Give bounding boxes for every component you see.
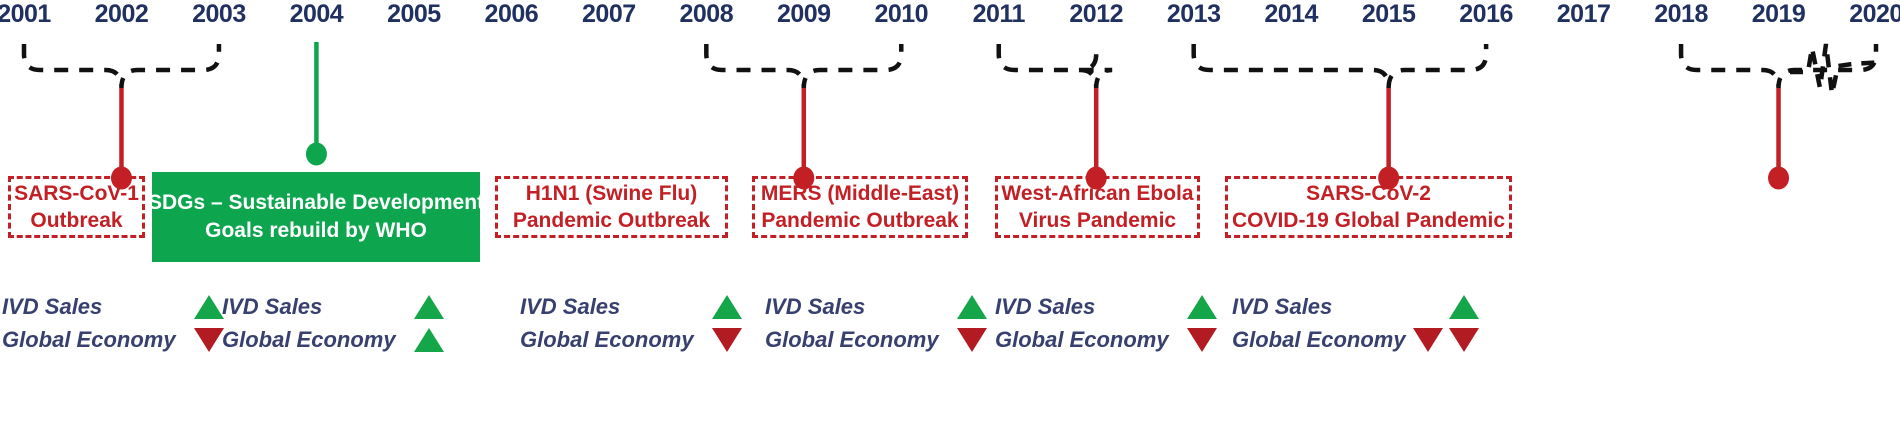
year-label-2011: 2011 (954, 0, 1044, 28)
indicator-group-ebola: IVD SalesGlobal Economy (995, 290, 1220, 356)
brace-ebola (1194, 44, 1486, 88)
event-text-line: Virus Pandemic (1019, 207, 1176, 234)
year-label-2013: 2013 (1149, 0, 1239, 28)
year-label-2014: 2014 (1246, 0, 1336, 28)
indicator-arrows-ivd-sales (1184, 290, 1220, 323)
triangle-up-icon (712, 295, 742, 319)
indicator-label-ivd-sales: IVD Sales (1232, 292, 1332, 322)
year-label-2007: 2007 (564, 0, 654, 28)
event-text-line: COVID-19 Global Pandemic (1232, 207, 1505, 234)
year-label-2012: 2012 (1051, 0, 1141, 28)
event-text-line: Goals rebuild by WHO (205, 217, 427, 245)
event-text-line: Pandemic Outbreak (513, 207, 710, 234)
event-box-sars-cov-1[interactable]: SARS-CoV-1Outbreak (8, 176, 145, 238)
triangle-up-icon (1449, 295, 1479, 319)
indicator-arrows-ivd-sales (411, 290, 447, 323)
indicator-label-global-economy: Global Economy (995, 325, 1169, 355)
year-label-2015: 2015 (1344, 0, 1434, 28)
triangle-down-icon (712, 328, 742, 352)
indicator-row-ivd-sales: IVD Sales (765, 290, 990, 323)
indicator-row-global-economy: Global Economy (765, 323, 990, 356)
event-text-line: West-African Ebola (1001, 180, 1193, 207)
event-box-mers[interactable]: MERS (Middle-East)Pandemic Outbreak (752, 176, 968, 238)
triangle-down-icon (1413, 328, 1443, 352)
indicator-arrows-ivd-sales (954, 290, 990, 323)
indicator-label-global-economy: Global Economy (765, 325, 939, 355)
indicator-row-ivd-sales: IVD Sales (995, 290, 1220, 323)
event-text-line: Outbreak (30, 207, 122, 234)
event-text-line: SARS-CoV-1 (14, 180, 139, 207)
indicator-label-ivd-sales: IVD Sales (2, 292, 102, 322)
indicator-row-global-economy: Global Economy (995, 323, 1220, 356)
triangle-down-icon (1187, 328, 1217, 352)
marker-dot-sdgs (306, 143, 327, 166)
year-label-2019: 2019 (1734, 0, 1824, 28)
marker-dot-sars-cov-2 (1768, 167, 1789, 190)
year-label-2006: 2006 (466, 0, 556, 28)
indicator-group-sars-cov-2: IVD SalesGlobal Economy (1232, 290, 1482, 356)
event-box-h1n1[interactable]: H1N1 (Swine Flu)Pandemic Outbreak (495, 176, 728, 238)
triangle-up-icon (194, 295, 224, 319)
indicator-label-global-economy: Global Economy (520, 325, 694, 355)
triangle-up-icon (414, 328, 444, 352)
indicator-label-ivd-sales: IVD Sales (222, 292, 322, 322)
year-label-2005: 2005 (369, 0, 459, 28)
triangle-up-icon (957, 295, 987, 319)
indicator-row-global-economy: Global Economy (2, 323, 227, 356)
indicator-label-global-economy: Global Economy (222, 325, 396, 355)
year-label-2016: 2016 (1441, 0, 1531, 28)
indicator-arrows-global-economy (954, 323, 990, 356)
year-label-2004: 2004 (271, 0, 361, 28)
event-text-line: Pandemic Outbreak (761, 207, 958, 234)
indicator-group-sars-cov-1: IVD SalesGlobal Economy (2, 290, 227, 356)
indicator-label-ivd-sales: IVD Sales (995, 292, 1095, 322)
event-text-line: H1N1 (Swine Flu) (526, 180, 698, 207)
event-text-line: SDGs – Sustainable Development (148, 189, 484, 217)
indicator-row-ivd-sales: IVD Sales (222, 290, 447, 323)
indicator-group-mers: IVD SalesGlobal Economy (765, 290, 990, 356)
event-text-line: SARS-CoV-2 (1306, 180, 1431, 207)
year-label-2001: 2001 (0, 0, 69, 28)
event-box-ebola[interactable]: West-African EbolaVirus Pandemic (995, 176, 1200, 238)
timeline-infographic: 2001200220032004200520062007200820092010… (0, 0, 1900, 428)
brace-h1n1 (706, 44, 901, 88)
triangle-down-icon (957, 328, 987, 352)
indicator-group-sdgs: IVD SalesGlobal Economy (222, 290, 447, 356)
year-label-2003: 2003 (174, 0, 264, 28)
year-label-2017: 2017 (1539, 0, 1629, 28)
indicator-row-global-economy: Global Economy (1232, 323, 1482, 356)
event-box-sdgs[interactable]: SDGs – Sustainable DevelopmentGoals rebu… (152, 172, 480, 262)
indicator-row-global-economy: Global Economy (520, 323, 745, 356)
timeline-continues-icon (1790, 44, 1884, 94)
indicator-arrows-global-economy (1184, 323, 1220, 356)
indicator-label-ivd-sales: IVD Sales (520, 292, 620, 322)
brace-sars-cov-2 (1681, 44, 1876, 88)
year-label-2009: 2009 (759, 0, 849, 28)
event-box-sars-cov-2[interactable]: SARS-CoV-2COVID-19 Global Pandemic (1225, 176, 1512, 238)
year-label-2002: 2002 (76, 0, 166, 28)
indicator-group-h1n1: IVD SalesGlobal Economy (520, 290, 745, 356)
triangle-up-icon (414, 295, 444, 319)
indicator-row-ivd-sales: IVD Sales (2, 290, 227, 323)
indicator-label-ivd-sales: IVD Sales (765, 292, 865, 322)
indicator-arrows-ivd-sales (709, 290, 745, 323)
indicator-arrows-global-economy (411, 323, 447, 356)
indicator-label-global-economy: Global Economy (2, 325, 176, 355)
indicator-arrows-ivd-sales (1446, 290, 1482, 323)
brace-sars-cov-1 (24, 44, 219, 88)
year-axis: 2001200220032004200520062007200820092010… (0, 0, 1900, 30)
triangle-down-icon (194, 328, 224, 352)
brace-mers (999, 44, 1112, 88)
year-label-2008: 2008 (661, 0, 751, 28)
indicator-label-global-economy: Global Economy (1232, 325, 1406, 355)
year-label-2018: 2018 (1636, 0, 1726, 28)
triangle-up-icon (1187, 295, 1217, 319)
indicator-row-ivd-sales: IVD Sales (520, 290, 745, 323)
event-text-line: MERS (Middle-East) (761, 180, 959, 207)
indicator-arrows-global-economy (709, 323, 745, 356)
indicator-row-global-economy: Global Economy (222, 323, 447, 356)
year-label-2010: 2010 (856, 0, 946, 28)
indicator-row-ivd-sales: IVD Sales (1232, 290, 1482, 323)
year-label-2020: 2020 (1831, 0, 1900, 28)
indicator-arrows-global-economy (1410, 323, 1482, 356)
triangle-down-icon (1449, 328, 1479, 352)
